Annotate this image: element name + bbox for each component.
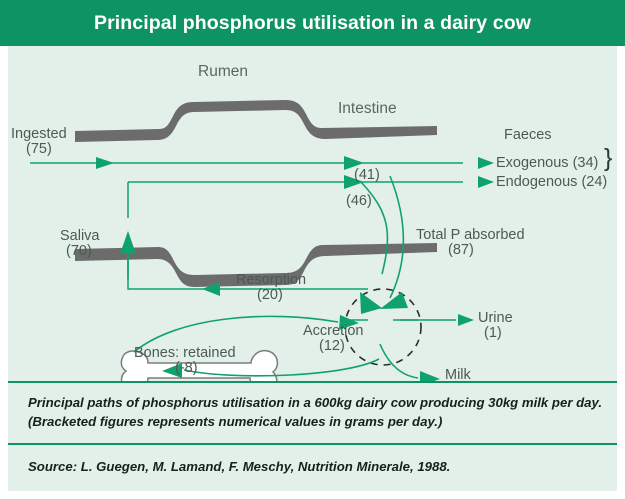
label-saliva-value: (70) — [66, 244, 92, 259]
label-resorption: Resorption — [236, 273, 306, 288]
label-faeces: Faeces — [504, 128, 552, 143]
label-total-p-absorbed: Total P absorbed — [416, 228, 525, 243]
label-bones-value: (-8) — [175, 361, 198, 376]
label-secretion-46: (46) — [346, 194, 372, 209]
flow-ingested — [30, 156, 494, 170]
label-bones: Bones: retained — [134, 346, 236, 361]
label-accretion-value: (12) — [319, 339, 345, 354]
figure-header-bar: Principal phosphorus utilisation in a da… — [0, 0, 625, 46]
label-resorption-value: (20) — [257, 288, 283, 303]
figure-title: Principal phosphorus utilisation in a da… — [0, 0, 625, 46]
flow-milk — [380, 344, 440, 381]
faeces-brace: } — [604, 151, 612, 166]
label-intestine: Intestine — [338, 101, 397, 116]
label-ingested-value: (75) — [26, 142, 52, 157]
label-ingested: Ingested — [11, 127, 67, 142]
label-rumen: Rumen — [198, 64, 248, 79]
label-urine: Urine — [478, 311, 513, 326]
label-secretion-41: (41) — [354, 168, 380, 183]
diagram-canvas: Rumen Intestine Ingested (75) Faeces Exo… — [8, 46, 617, 381]
label-accretion: Accretion — [303, 324, 363, 339]
label-total-p-value: (87) — [448, 243, 474, 258]
source-block: Source: L. Guegen, M. Lamand, F. Meschy,… — [8, 443, 617, 491]
label-exogenous: Exogenous (34) — [496, 156, 598, 171]
flow-secretion-41 — [120, 182, 136, 218]
source-text: Source: L. Guegen, M. Lamand, F. Meschy,… — [28, 458, 603, 476]
label-urine-value: (1) — [484, 326, 502, 341]
caption-block: Principal paths of phosphorus utilisatio… — [8, 381, 617, 443]
figure-page: Principal phosphorus utilisation in a da… — [0, 0, 625, 499]
caption-text: Principal paths of phosphorus utilisatio… — [28, 393, 603, 431]
label-milk: Milk — [445, 368, 471, 381]
label-saliva: Saliva — [60, 229, 100, 244]
label-endogenous: Endogenous (24) — [496, 175, 607, 190]
flow-endogenous — [128, 175, 494, 189]
